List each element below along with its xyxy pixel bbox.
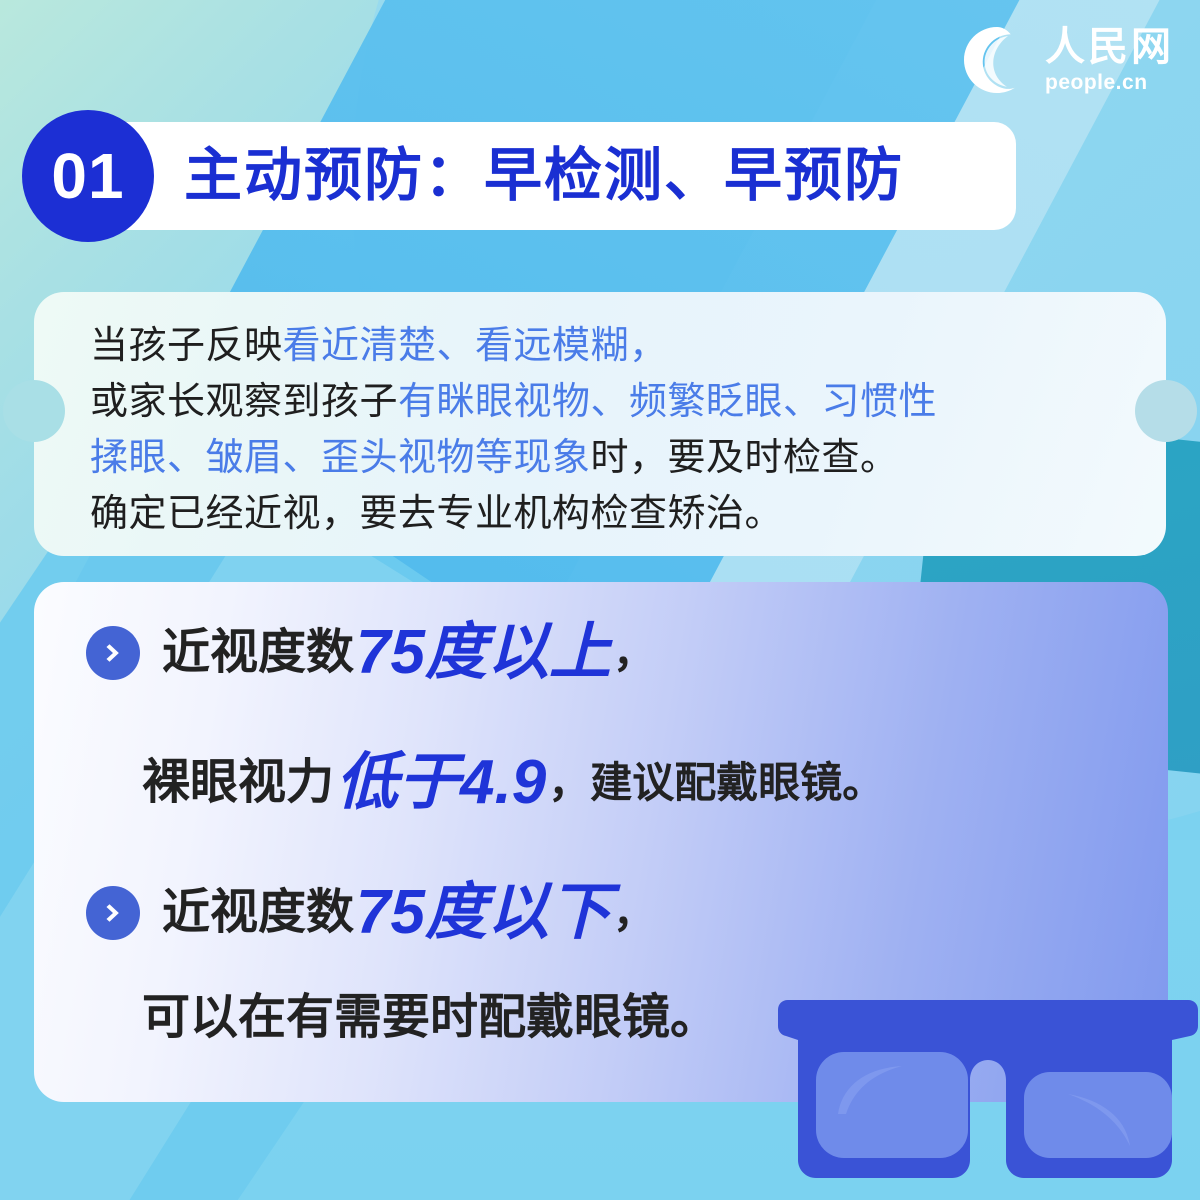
intro-text-highlight: 有眯眼视物、频繁眨眼、习惯性 (398, 381, 937, 423)
advice-text-emphasis: 75度以下 (354, 882, 613, 944)
intro-text-dark: 或家长观察到孩子 (90, 381, 398, 423)
advice-text-tail: ， (613, 892, 655, 934)
intro-line: 或家长观察到孩子有眯眼视物、频繁眨眼、习惯性 (90, 374, 1166, 430)
intro-text-dark: 确定已经近视，要去专业机构检查矫治。 (90, 493, 783, 535)
chevron-right-icon (86, 886, 140, 940)
page-title: 主动预防：早检测、早预防 (184, 147, 904, 205)
advice-text-dark: 近视度数 (162, 889, 354, 937)
intro-text-dark: 当孩子反映 (90, 325, 283, 367)
people-cn-logo-icon (961, 24, 1033, 96)
intro-line: 当孩子反映看近清楚、看远模糊， (90, 318, 1166, 374)
section-header-card: 01 主动预防：早检测、早预防 (36, 122, 1016, 230)
advice-item: 可以在有需要时配戴眼镜。 (142, 994, 722, 1042)
section-number-badge: 01 (22, 110, 154, 242)
logo-name-cn: 人民网 (1045, 27, 1174, 67)
advice-text-emphasis: 低于4.9 (334, 752, 548, 814)
advice-text-dark: 裸眼视力 (142, 759, 334, 807)
intro-text-highlight: 看近清楚、看远模糊， (283, 325, 668, 367)
intro-line: 确定已经近视，要去专业机构检查矫治。 (90, 486, 1166, 542)
intro-text-card: 当孩子反映看近清楚、看远模糊， 或家长观察到孩子有眯眼视物、频繁眨眼、习惯性 揉… (34, 292, 1166, 556)
intro-line: 揉眼、皱眉、歪头视物等现象时，要及时检查。 (90, 430, 1166, 486)
card-notch-right (1135, 380, 1197, 442)
logo-wordmark: 人民网 people.cn (1045, 27, 1174, 93)
intro-text-highlight: 揉眼、皱眉、歪头视物等现象 (90, 437, 591, 479)
advice-text-emphasis: 75度以上 (354, 622, 613, 684)
infographic-poster: 人民网 people.cn 01 主动预防：早检测、早预防 当孩子反映看近清楚、… (0, 0, 1200, 1200)
advice-text-dark: 近视度数 (162, 629, 354, 677)
people-cn-logo: 人民网 people.cn (961, 24, 1174, 96)
advice-item: 近视度数 75度以下 ， (86, 882, 655, 944)
advice-item: 近视度数 75度以上 ， (86, 622, 655, 684)
chevron-right-icon (86, 626, 140, 680)
card-notch-left (3, 380, 65, 442)
intro-text-tail: 时，要及时检查。 (591, 437, 899, 479)
section-number: 01 (51, 144, 124, 208)
advice-item: 裸眼视力 低于4.9 ，建议配戴眼镜。 (142, 752, 884, 814)
advice-text-dark: 可以在有需要时配戴眼镜。 (142, 994, 718, 1042)
logo-name-en: people.cn (1045, 72, 1148, 93)
eyeglasses-icon (768, 994, 1200, 1194)
advice-text-tail: ，建议配戴眼镜。 (548, 762, 884, 804)
advice-text-tail: ， (613, 632, 655, 674)
